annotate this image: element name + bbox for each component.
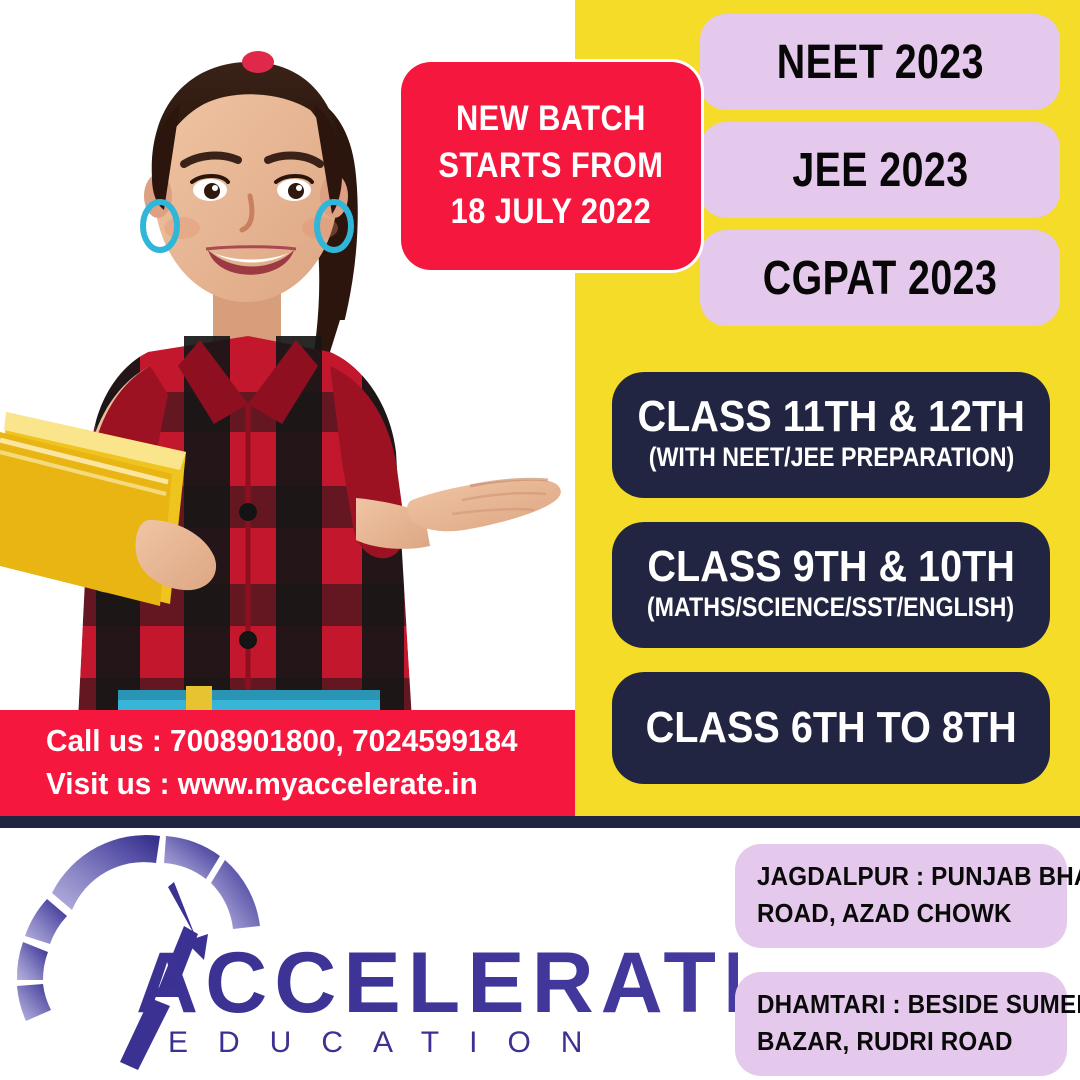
exam-label-cgpat: CGPAT 2023: [763, 251, 998, 306]
class-card-9-10[interactable]: CLASS 9TH & 10TH (MATHS/SCIENCE/SST/ENGL…: [612, 522, 1050, 648]
bottom-section: ACCELERATE EDUCATION JAGDALPUR : PUNJAB …: [0, 828, 1080, 1080]
address-jagdalpur-line-2: ROAD, AZAD CHOWK: [757, 895, 1029, 932]
address-dhamtari-line-1: DHAMTARI : BESIDE SUMEET: [757, 986, 1029, 1023]
address-pill-jagdalpur[interactable]: JAGDALPUR : PUNJAB BHAVAN ROAD, AZAD CHO…: [735, 844, 1067, 948]
section-divider: [0, 816, 1080, 828]
exam-label-jee: JEE 2023: [792, 143, 968, 198]
class-subtitle-11-12: (WITH NEET/JEE PREPARATION): [648, 442, 1014, 472]
new-batch-line-3: 18 JULY 2022: [451, 191, 652, 234]
exam-label-neet: NEET 2023: [776, 35, 983, 90]
logo-wordmark: ACCELERATE: [136, 935, 738, 1031]
address-dhamtari-line-2: BAZAR, RUDRI ROAD: [757, 1023, 1029, 1060]
new-batch-banner: NEW BATCH STARTS FROM 18 JULY 2022: [401, 62, 701, 270]
exam-pill-cgpat[interactable]: CGPAT 2023: [700, 230, 1060, 326]
exam-list: NEET 2023 JEE 2023 CGPAT 2023: [700, 14, 1060, 326]
contact-call-line[interactable]: Call us : 7008901800, 7024599184: [46, 720, 518, 763]
class-list: CLASS 11TH & 12TH (WITH NEET/JEE PREPARA…: [612, 372, 1050, 784]
contact-strip: Call us : 7008901800, 7024599184 Visit u…: [0, 710, 575, 816]
class-subtitle-9-10: (MATHS/SCIENCE/SST/ENGLISH): [647, 592, 1014, 622]
class-title-11-12: CLASS 11TH & 12TH: [637, 394, 1024, 441]
logo-tagline: EDUCATION: [168, 1026, 612, 1059]
class-card-6-8[interactable]: CLASS 6TH TO 8TH: [612, 672, 1050, 784]
class-title-9-10: CLASS 9TH & 10TH: [647, 544, 1014, 591]
new-batch-line-2: STARTS FROM: [438, 145, 663, 188]
contact-visit-line[interactable]: Visit us : www.myaccelerate.in: [46, 763, 478, 806]
class-title-6-8: CLASS 6TH TO 8TH: [645, 705, 1016, 752]
address-list: JAGDALPUR : PUNJAB BHAVAN ROAD, AZAD CHO…: [735, 844, 1067, 1076]
top-section: NEW BATCH STARTS FROM 18 JULY 2022 NEET …: [0, 0, 1080, 816]
admission-poster: NEW BATCH STARTS FROM 18 JULY 2022 NEET …: [0, 0, 1080, 1080]
exam-pill-neet[interactable]: NEET 2023: [700, 14, 1060, 110]
class-card-11-12[interactable]: CLASS 11TH & 12TH (WITH NEET/JEE PREPARA…: [612, 372, 1050, 498]
address-jagdalpur-line-1: JAGDALPUR : PUNJAB BHAVAN: [757, 858, 1029, 895]
logo-graphic: ACCELERATE EDUCATION: [8, 830, 738, 1080]
exam-pill-jee[interactable]: JEE 2023: [700, 122, 1060, 218]
new-batch-line-1: NEW BATCH: [456, 98, 646, 141]
accelerate-logo: ACCELERATE EDUCATION: [8, 830, 738, 1080]
address-pill-dhamtari[interactable]: DHAMTARI : BESIDE SUMEET BAZAR, RUDRI RO…: [735, 972, 1067, 1076]
